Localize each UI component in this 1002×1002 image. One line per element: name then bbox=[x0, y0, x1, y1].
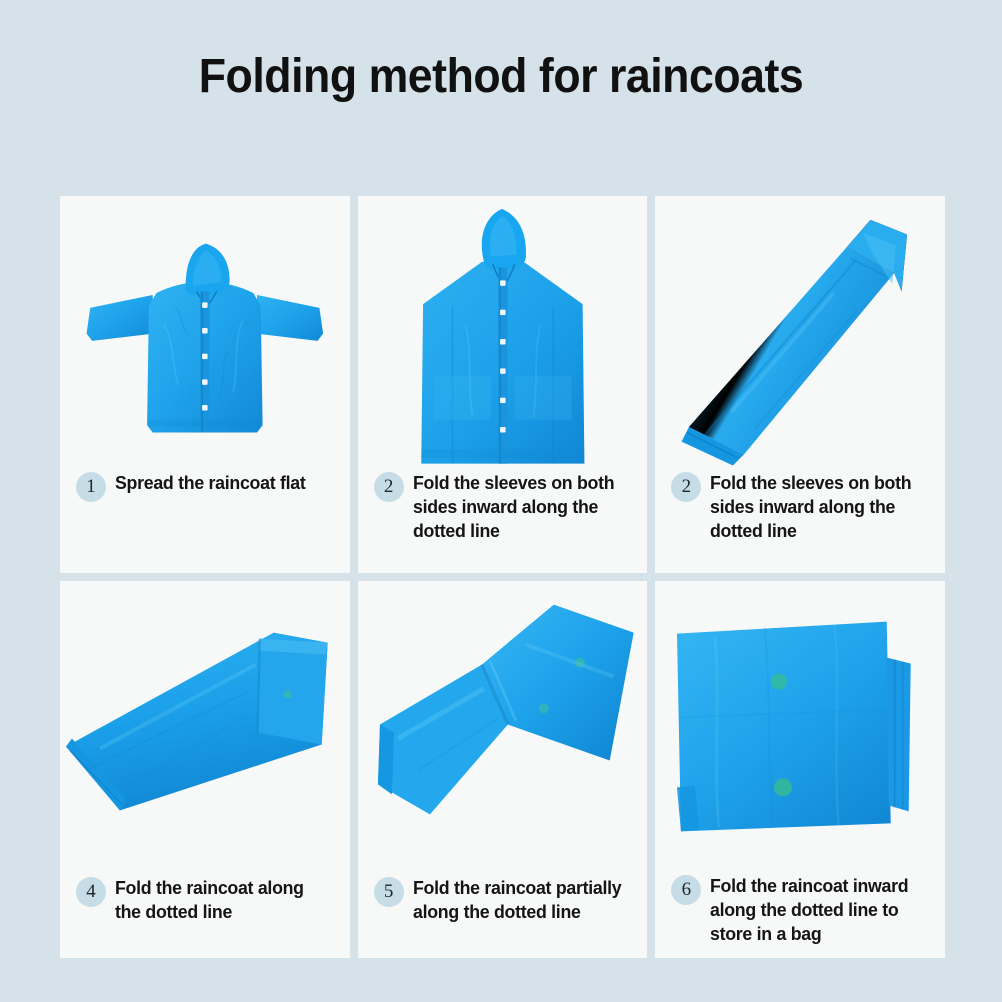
step-number-badge-6: 6 bbox=[671, 875, 701, 905]
step-card-1: 1 Spread the raincoat flat bbox=[60, 196, 350, 573]
step-text-6: Fold the raincoat inward along the dotte… bbox=[710, 874, 922, 946]
step-caption-1: 1 Spread the raincoat flat bbox=[60, 471, 350, 573]
step-card-4: 4 Fold the raincoat along the dotted lin… bbox=[60, 581, 350, 958]
raincoat-half-folded-icon bbox=[358, 581, 648, 876]
step-number-badge-3: 2 bbox=[671, 472, 701, 502]
step-image-3 bbox=[655, 196, 945, 471]
raincoat-packed-square-icon bbox=[655, 581, 945, 874]
step-card-3: 2 Fold the sleeves on both sides inward … bbox=[655, 196, 945, 573]
step-text-5: Fold the raincoat partially along the do… bbox=[413, 876, 625, 924]
step-number-badge-1: 1 bbox=[76, 472, 106, 502]
step-card-5: 5 Fold the raincoat partially along the … bbox=[358, 581, 648, 958]
step-number-badge-4: 4 bbox=[76, 877, 106, 907]
title-container: Folding method for raincoats bbox=[0, 48, 1002, 106]
step-text-2: Fold the sleeves on both sides inward al… bbox=[413, 471, 625, 543]
page-title: Folding method for raincoats bbox=[199, 48, 804, 106]
steps-grid: 1 Spread the raincoat flat bbox=[60, 196, 945, 958]
step-caption-5: 5 Fold the raincoat partially along the … bbox=[358, 876, 648, 958]
raincoat-long-strip-icon bbox=[655, 196, 945, 471]
raincoat-flat-icon bbox=[60, 196, 350, 471]
step-image-6 bbox=[655, 581, 945, 874]
raincoat-folded-band-icon bbox=[60, 581, 350, 876]
step-card-2: 2 Fold the sleeves on both sides inward … bbox=[358, 196, 648, 573]
step-text-3: Fold the sleeves on both sides inward al… bbox=[710, 471, 922, 543]
raincoat-sleeves-folded-icon bbox=[358, 196, 648, 471]
step-text-1: Spread the raincoat flat bbox=[115, 471, 305, 495]
step-caption-4: 4 Fold the raincoat along the dotted lin… bbox=[60, 876, 350, 958]
step-caption-6: 6 Fold the raincoat inward along the dot… bbox=[655, 874, 945, 958]
step-text-4: Fold the raincoat along the dotted line bbox=[115, 876, 327, 924]
step-image-5 bbox=[358, 581, 648, 876]
step-caption-2: 2 Fold the sleeves on both sides inward … bbox=[358, 471, 648, 573]
step-number-badge-5: 5 bbox=[374, 877, 404, 907]
infographic-page: Folding method for raincoats bbox=[0, 0, 1002, 1002]
step-number-badge-2: 2 bbox=[374, 472, 404, 502]
step-image-4 bbox=[60, 581, 350, 876]
step-caption-3: 2 Fold the sleeves on both sides inward … bbox=[655, 471, 945, 573]
step-image-1 bbox=[60, 196, 350, 471]
step-image-2 bbox=[358, 196, 648, 471]
step-card-6: 6 Fold the raincoat inward along the dot… bbox=[655, 581, 945, 958]
